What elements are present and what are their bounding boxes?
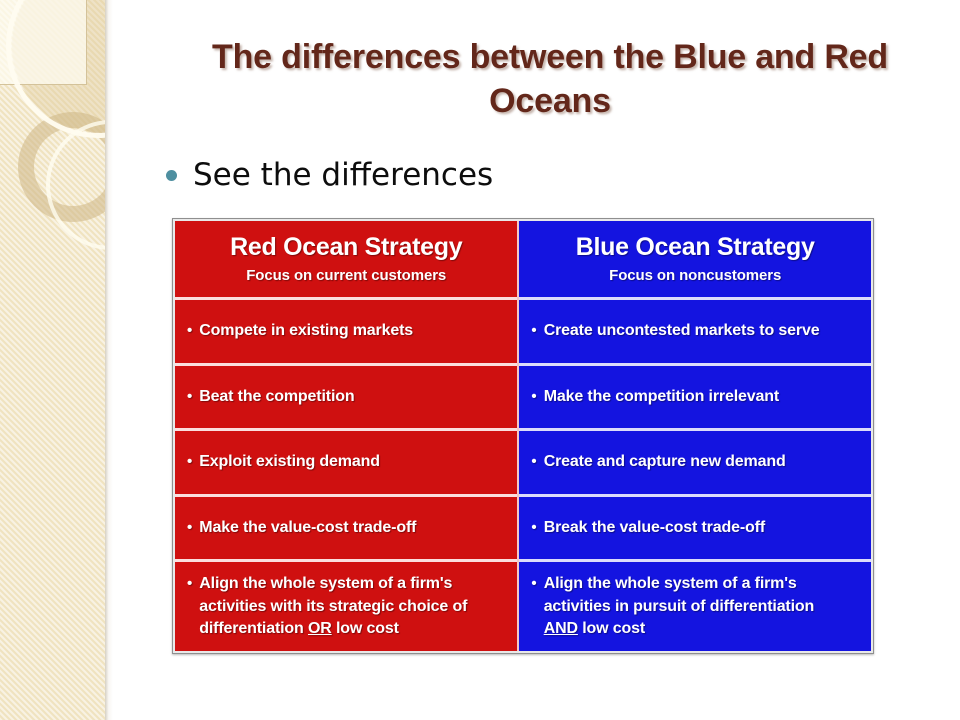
table-row: • Compete in existing markets xyxy=(175,297,517,363)
table-column-red-ocean: Red Ocean Strategy Focus on current cust… xyxy=(175,221,517,651)
table-row: • Beat the competition xyxy=(175,363,517,429)
row-text-line2: activities with its strategic choice of xyxy=(199,598,467,615)
table-row: • Make the competition irrelevant xyxy=(519,363,871,429)
table-row: • Exploit existing demand xyxy=(175,428,517,494)
bullet-dot-icon xyxy=(166,170,177,181)
row-bullet-icon: • xyxy=(187,454,192,469)
table-column-blue-ocean: Blue Ocean Strategy Focus on noncustomer… xyxy=(517,221,871,651)
column-header-subtitle: Focus on current customers xyxy=(246,267,446,284)
table-row: • Create and capture new demand xyxy=(519,428,871,494)
row-text: Align the whole system of a firm's activ… xyxy=(199,573,467,639)
column-header-red-ocean: Red Ocean Strategy Focus on current cust… xyxy=(175,221,517,297)
table-row: • Break the value-cost trade-off xyxy=(519,494,871,560)
row-text-emphasis: AND xyxy=(544,620,578,637)
slide-canvas: The differences between the Blue and Red… xyxy=(0,0,960,720)
row-bullet-icon: • xyxy=(187,323,192,338)
row-text: Beat the competition xyxy=(199,386,354,408)
row-bullet-icon: • xyxy=(187,389,192,404)
column-header-title: Red Ocean Strategy xyxy=(230,234,462,260)
bullet-list-item: See the differences xyxy=(166,158,493,192)
row-text: Compete in existing markets xyxy=(199,320,413,342)
bullet-item-label: See the differences xyxy=(193,158,493,192)
row-bullet-icon: • xyxy=(531,576,536,591)
column-header-title: Blue Ocean Strategy xyxy=(576,234,815,260)
table-row: • Align the whole system of a firm's act… xyxy=(519,559,871,651)
decorative-sidebar xyxy=(0,0,105,720)
comparison-table: Red Ocean Strategy Focus on current cust… xyxy=(175,221,871,651)
sidebar-edge-shadow xyxy=(105,0,113,720)
row-text-line1: Align the whole system of a firm's xyxy=(544,575,797,592)
column-header-subtitle: Focus on noncustomers xyxy=(609,267,781,284)
comparison-table-image: Red Ocean Strategy Focus on current cust… xyxy=(172,218,874,654)
row-text: Create and capture new demand xyxy=(544,451,786,473)
table-row: • Make the value-cost trade-off xyxy=(175,494,517,560)
table-row: • Create uncontested markets to serve xyxy=(519,297,871,363)
row-bullet-icon: • xyxy=(531,520,536,535)
row-bullet-icon: • xyxy=(187,520,192,535)
row-bullet-icon: • xyxy=(187,576,192,591)
row-text: Create uncontested markets to serve xyxy=(544,320,820,342)
column-header-blue-ocean: Blue Ocean Strategy Focus on noncustomer… xyxy=(519,221,871,297)
row-text-emphasis: OR xyxy=(308,620,332,637)
row-text-line1: Align the whole system of a firm's xyxy=(199,575,452,592)
row-text: Align the whole system of a firm's activ… xyxy=(544,573,814,639)
row-bullet-icon: • xyxy=(531,323,536,338)
decorative-ring-thin-icon xyxy=(6,0,105,138)
row-bullet-icon: • xyxy=(531,389,536,404)
row-text: Exploit existing demand xyxy=(199,451,380,473)
row-bullet-icon: • xyxy=(531,454,536,469)
table-row: • Align the whole system of a firm's act… xyxy=(175,559,517,651)
row-text-line3-after: low cost xyxy=(578,620,645,637)
row-text: Make the value-cost trade-off xyxy=(199,517,416,539)
row-text-line2: activities in pursuit of differentiation xyxy=(544,598,814,615)
slide-title: The differences between the Blue and Red… xyxy=(150,36,950,123)
row-text-line3-after: low cost xyxy=(332,620,399,637)
row-text: Break the value-cost trade-off xyxy=(544,517,765,539)
row-text-line3-before: differentiation xyxy=(199,620,308,637)
row-text: Make the competition irrelevant xyxy=(544,386,779,408)
